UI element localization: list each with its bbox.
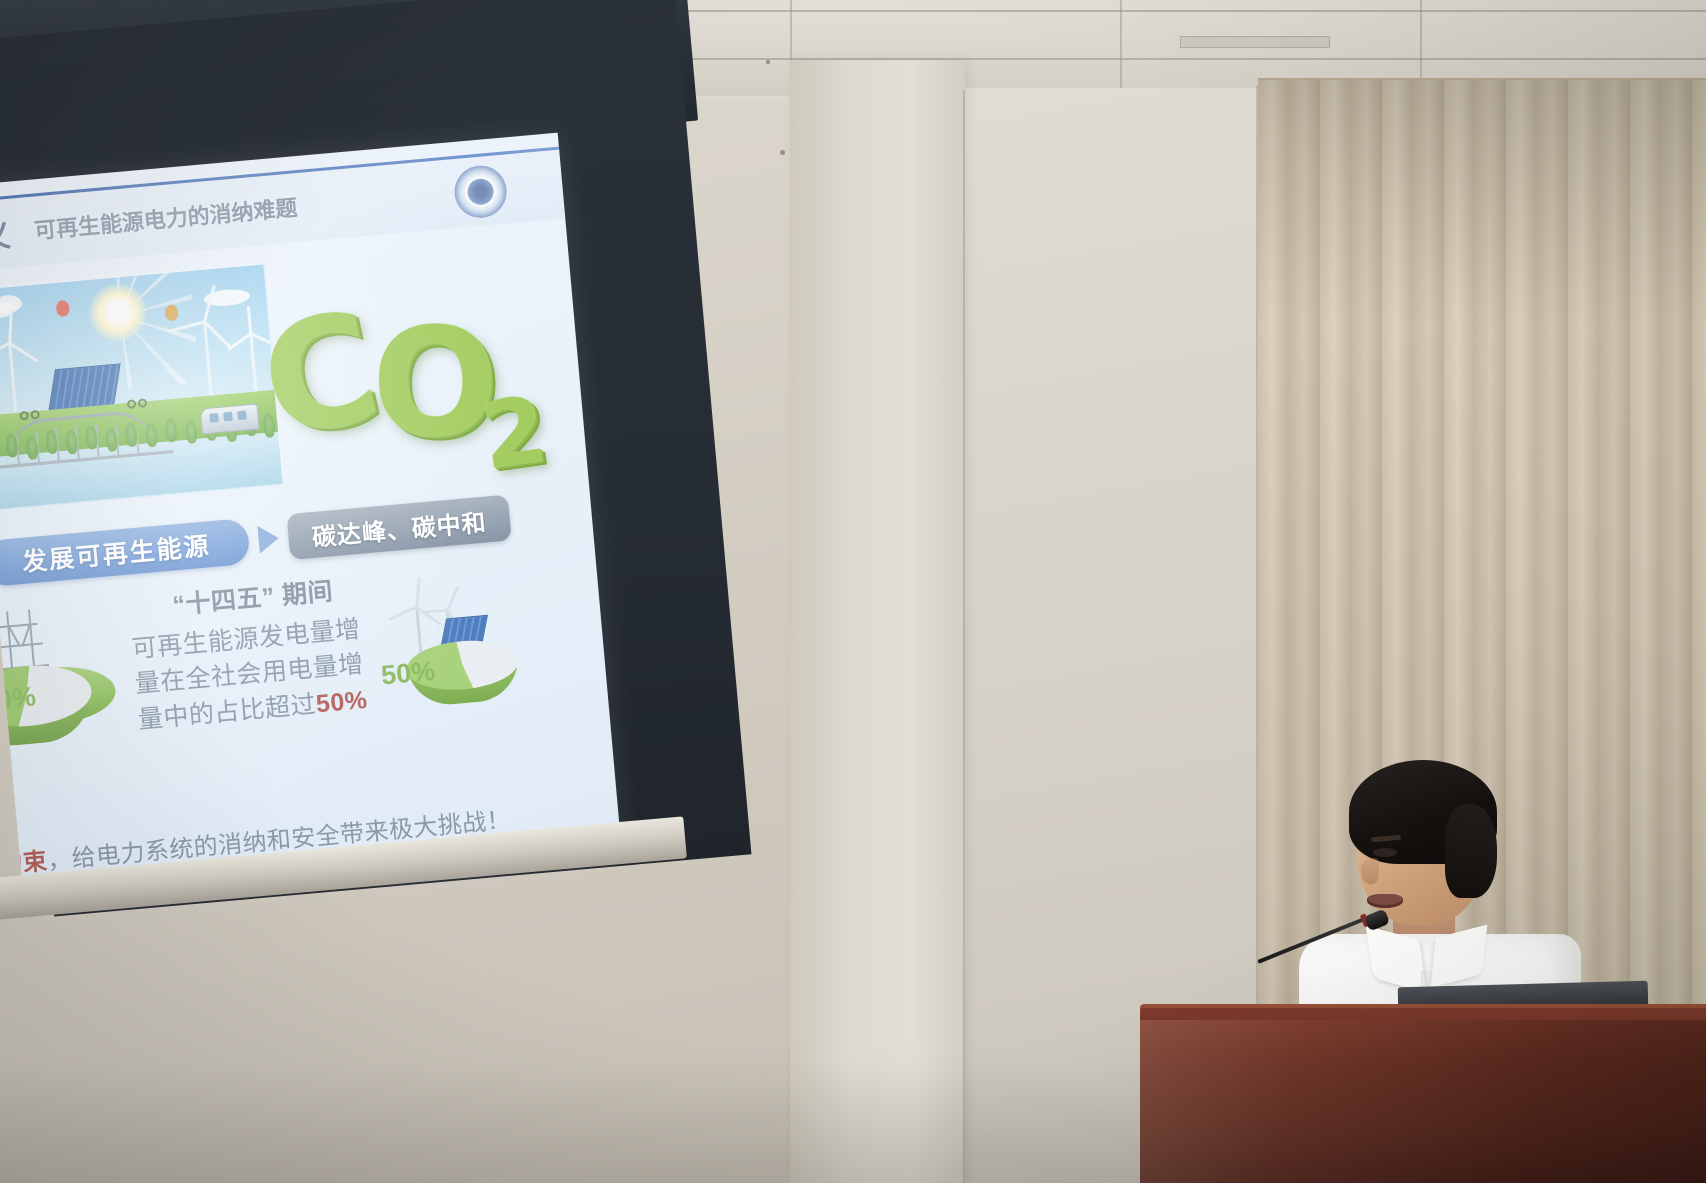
pie-left-label: 50% (0, 681, 37, 717)
room-scene: 意义 可再生能源电力的消纳难题 (0, 0, 1706, 1183)
hair-side (1445, 804, 1497, 898)
banner-right-label: 碳达峰、碳中和 (310, 502, 487, 552)
banner-left-label: 发展可再生能源 (20, 526, 211, 579)
slide-canvas: 意义 可再生能源电力的消纳难题 (0, 133, 623, 913)
renewable-energy-collage (0, 263, 284, 511)
cyclist-icon (126, 393, 145, 409)
wind-turbine-icon (0, 320, 36, 419)
wind-turbine-icon (399, 582, 435, 654)
wall-seam (963, 90, 965, 1183)
co2-letter-2: 2 (475, 376, 553, 491)
slide-body: 50% “十四五” 期间 可再生能源发电量增 量在全社会用电量增 量中的占比超过… (0, 546, 605, 828)
cyclist-icon (19, 405, 38, 421)
wooden-podium (1140, 1008, 1706, 1183)
projection-screen: 意义 可再生能源电力的消纳难题 (0, 0, 710, 900)
mouth (1367, 894, 1403, 908)
electric-train-icon (200, 403, 260, 434)
floor-shadow (0, 1063, 1260, 1183)
university-emblem-icon (452, 164, 508, 220)
ceiling-light (1180, 36, 1330, 48)
body-paragraph: “十四五” 期间 可再生能源发电量增 量在全社会用电量增 量中的占比超过50% (127, 571, 389, 739)
co2-graphic: C O 2 (243, 244, 594, 522)
slide-subtitle: 可再生能源电力的消纳难题 (33, 190, 299, 245)
eye (1373, 848, 1397, 857)
right-arrow-icon (257, 524, 279, 554)
pie-right-label: 50% (380, 656, 437, 692)
wall-speck (780, 150, 785, 155)
wall-column (790, 60, 965, 1183)
banner-develop-renewables: 发展可再生能源 (0, 518, 251, 587)
pie-chart-right: 50% (383, 574, 526, 709)
wall-speck (766, 60, 770, 64)
nose (1361, 858, 1379, 884)
slide-title: 意义 (0, 209, 14, 260)
body-highlight-50: 50% (315, 685, 369, 717)
wind-turbine-icon (180, 294, 233, 401)
